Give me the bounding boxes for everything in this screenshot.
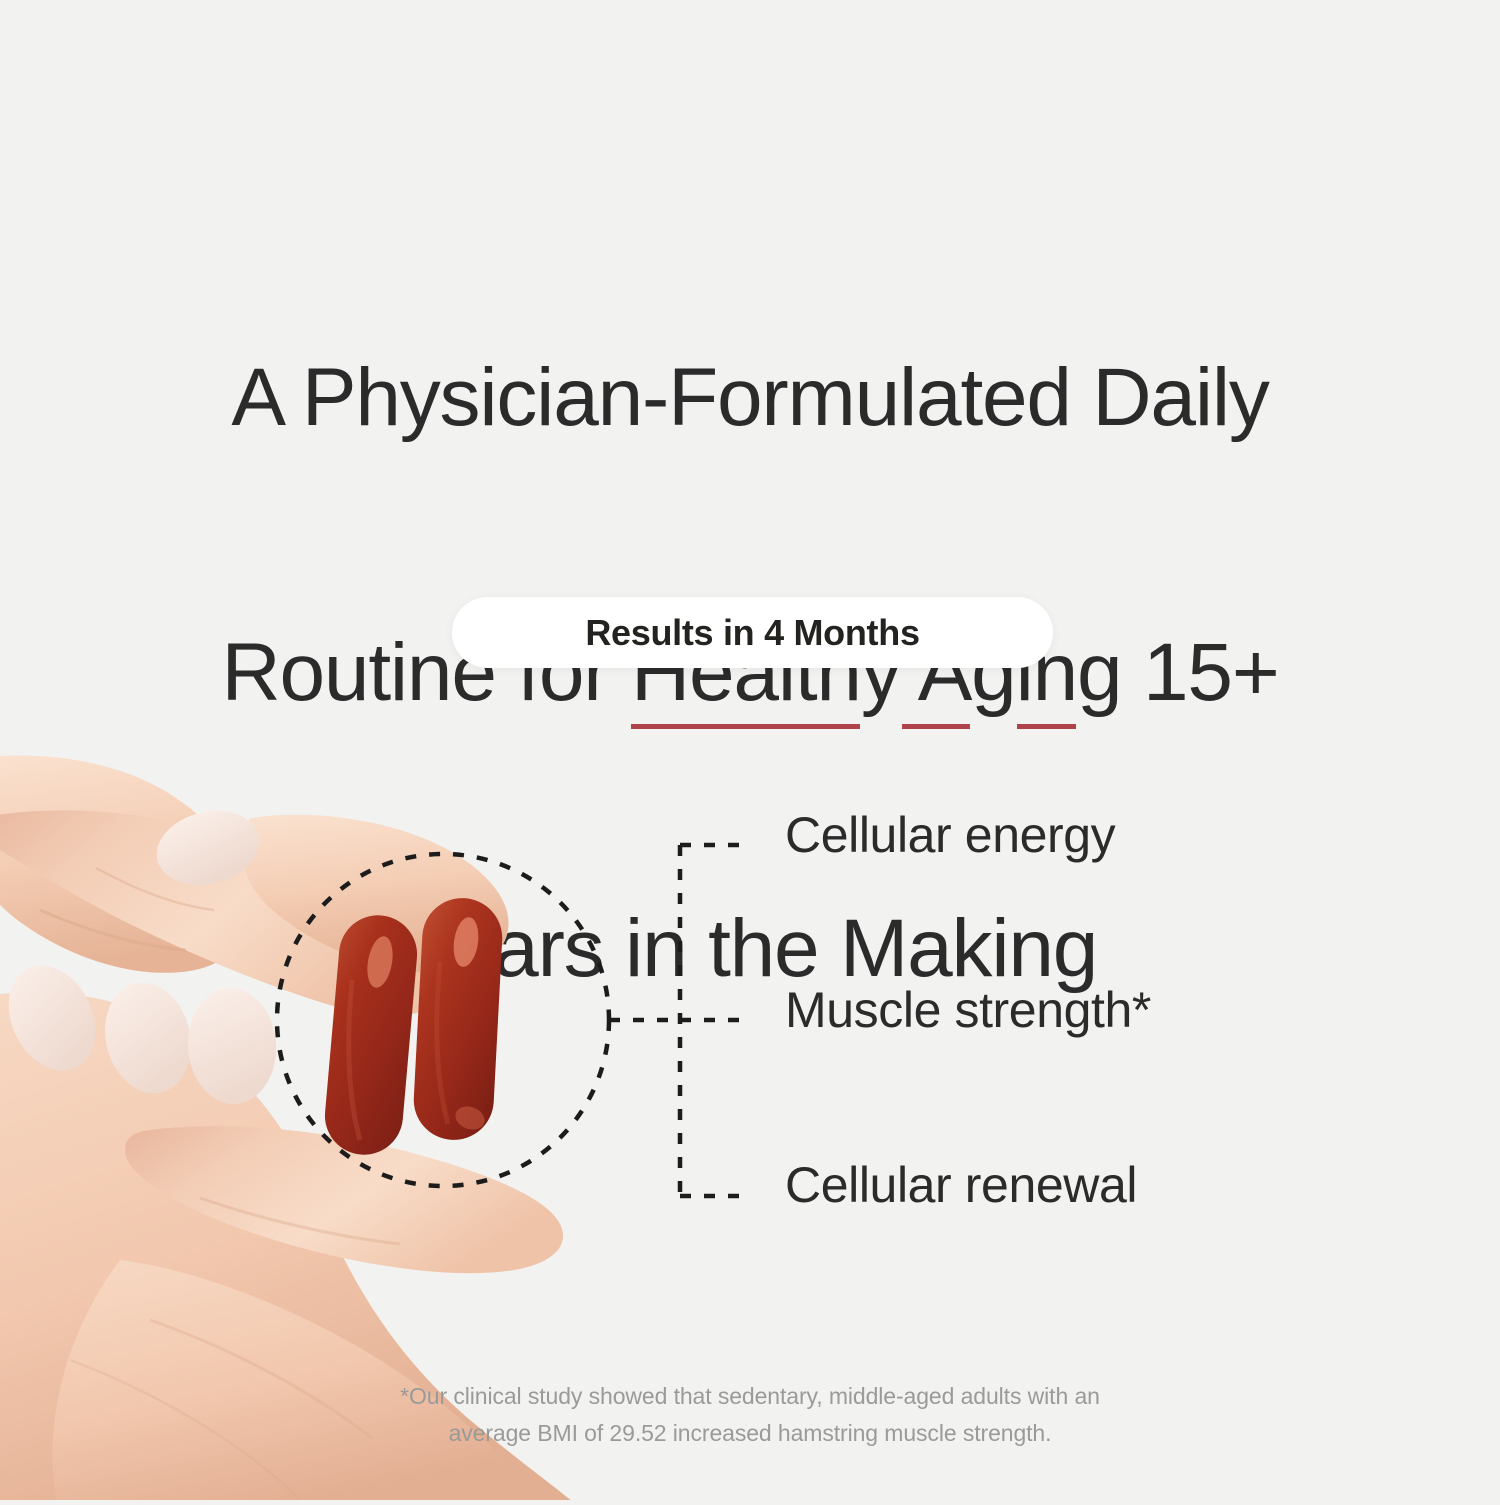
status-badge: Results in 4 Months	[452, 597, 1053, 668]
status-badge-label: Results in 4 Months	[585, 612, 919, 654]
footnote-line-2: average BMI of 29.52 increased hamstring…	[280, 1415, 1220, 1452]
footnote-line-1: *Our clinical study showed that sedentar…	[280, 1378, 1220, 1415]
underline-descender-gap	[970, 722, 1016, 731]
marketing-hero: A Physician-Formulated Daily Routine for…	[0, 0, 1500, 1500]
underline-descender-gap	[860, 722, 902, 731]
headline-line-1: A Physician-Formulated Daily	[120, 352, 1380, 444]
headline-line-2-suffix: 15+	[1121, 627, 1278, 718]
underline-descender-gap	[1076, 722, 1122, 731]
capsule-right	[412, 896, 505, 1142]
benefit-label-cellular-energy: Cellular energy	[785, 806, 1115, 864]
benefit-label-cellular-renewal: Cellular renewal	[785, 1156, 1137, 1214]
benefit-label-muscle-strength: Muscle strength*	[785, 981, 1151, 1039]
footnote: *Our clinical study showed that sedentar…	[280, 1378, 1220, 1453]
